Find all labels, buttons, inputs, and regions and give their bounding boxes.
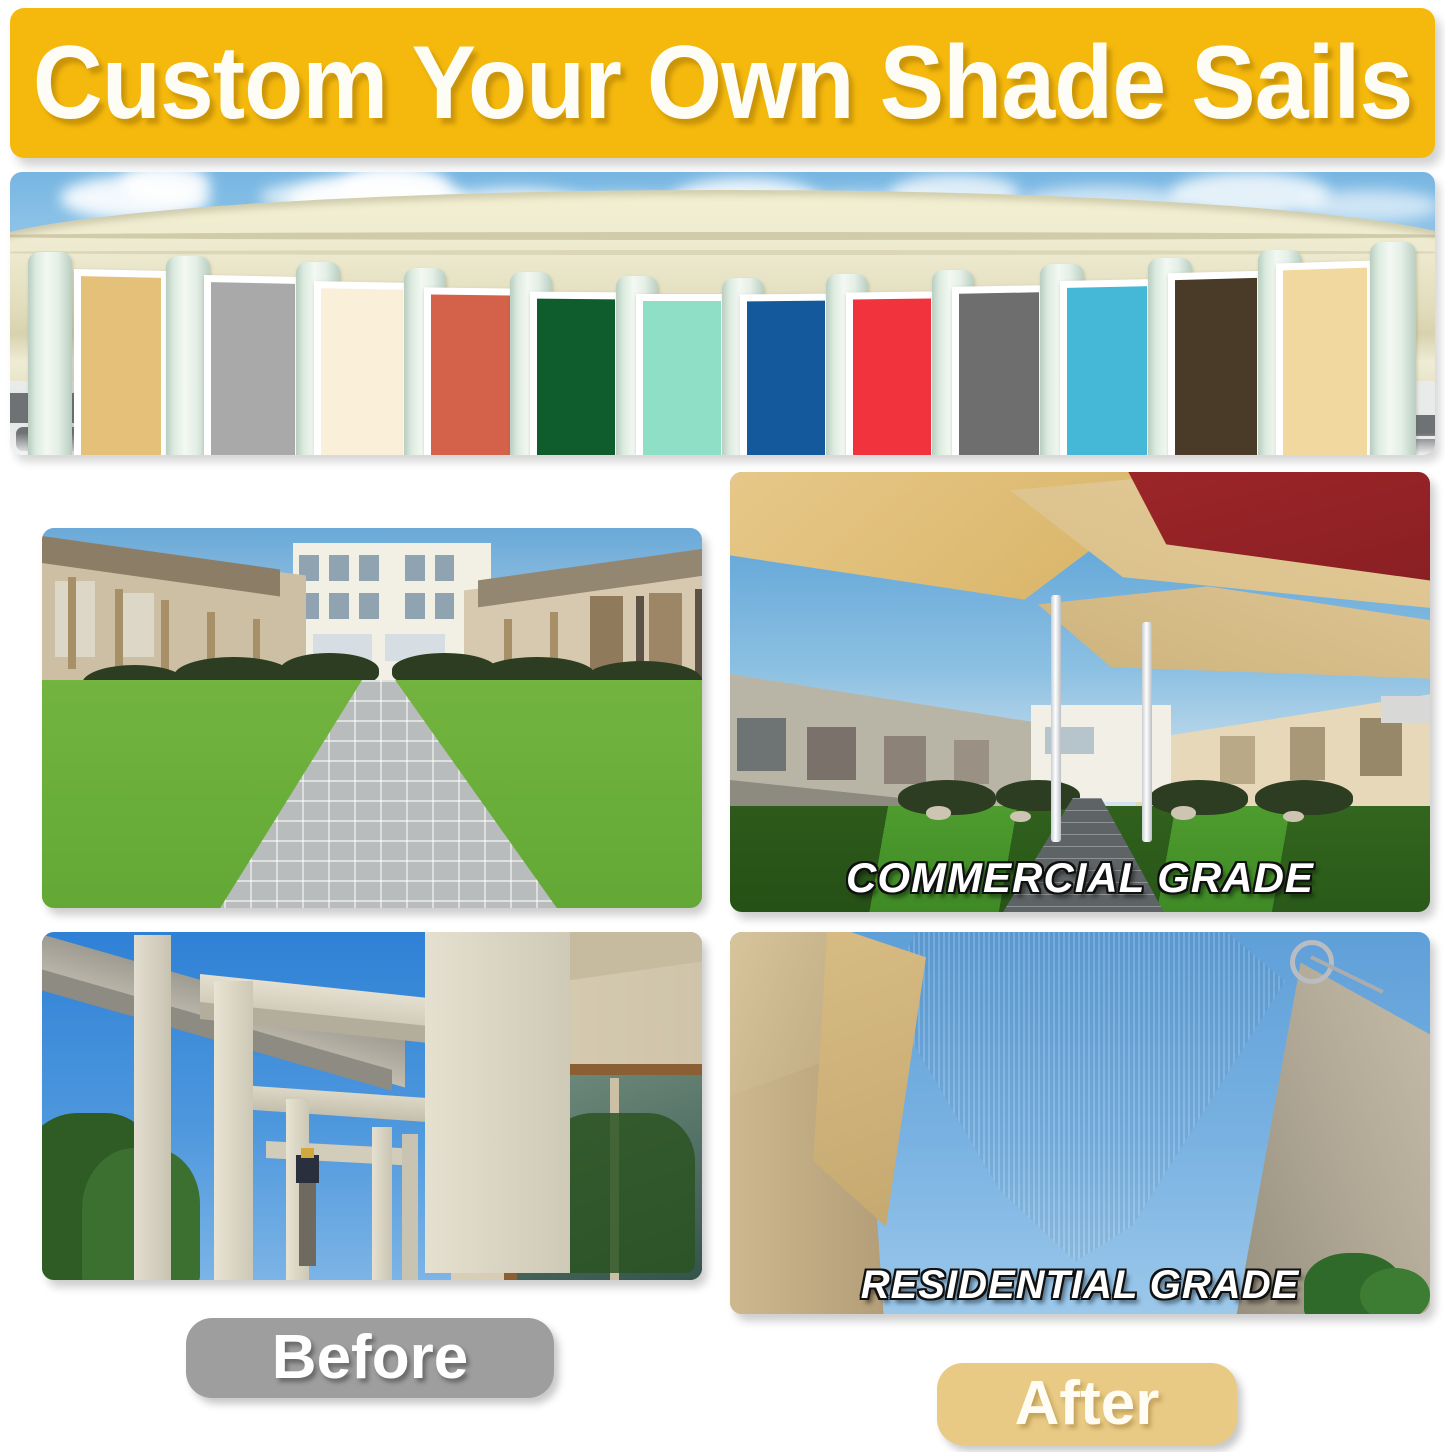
- swatch-terracotta[interactable]: [424, 287, 518, 455]
- swatch-royal-blue[interactable]: [740, 294, 832, 455]
- after-badge: After: [937, 1363, 1237, 1445]
- swatch-light-grey[interactable]: [204, 275, 302, 455]
- swatch-sand[interactable]: [74, 269, 168, 455]
- swatch-cream[interactable]: [314, 281, 410, 455]
- before-badge-label: Before: [272, 1327, 468, 1389]
- swatch-dark-green[interactable]: [530, 292, 622, 455]
- column: [1370, 242, 1416, 455]
- support-pole: [1051, 595, 1062, 841]
- residential-grade-shade-sail-photo[interactable]: RESIDENTIAL GRADE: [730, 932, 1430, 1314]
- d-ring-hardware: [1290, 940, 1334, 984]
- color-swatch-colonnade: [10, 172, 1435, 455]
- column: [28, 252, 72, 455]
- support-pole: [1142, 622, 1153, 842]
- header-banner: Custom Your Own Shade Sails: [10, 8, 1435, 158]
- swatch-red[interactable]: [846, 291, 938, 455]
- pergola-before-photo[interactable]: [42, 932, 702, 1280]
- before-badge: Before: [186, 1318, 554, 1398]
- swatch-turquoise[interactable]: [1060, 279, 1154, 455]
- swatch-mint[interactable]: [636, 294, 728, 455]
- courtyard-no-shade-photo[interactable]: [42, 528, 702, 908]
- commercial-grade-shade-sails-photo[interactable]: COMMERCIAL GRADE: [730, 472, 1430, 912]
- page-title: Custom Your Own Shade Sails: [33, 31, 1412, 135]
- swatch-light-sand[interactable]: [1276, 260, 1374, 455]
- commercial-grade-caption: COMMERCIAL GRADE: [730, 854, 1430, 902]
- swatch-brown[interactable]: [1168, 271, 1264, 455]
- after-badge-label: After: [1015, 1373, 1160, 1435]
- residential-grade-caption: RESIDENTIAL GRADE: [730, 1263, 1430, 1308]
- swatch-dark-grey[interactable]: [952, 285, 1046, 455]
